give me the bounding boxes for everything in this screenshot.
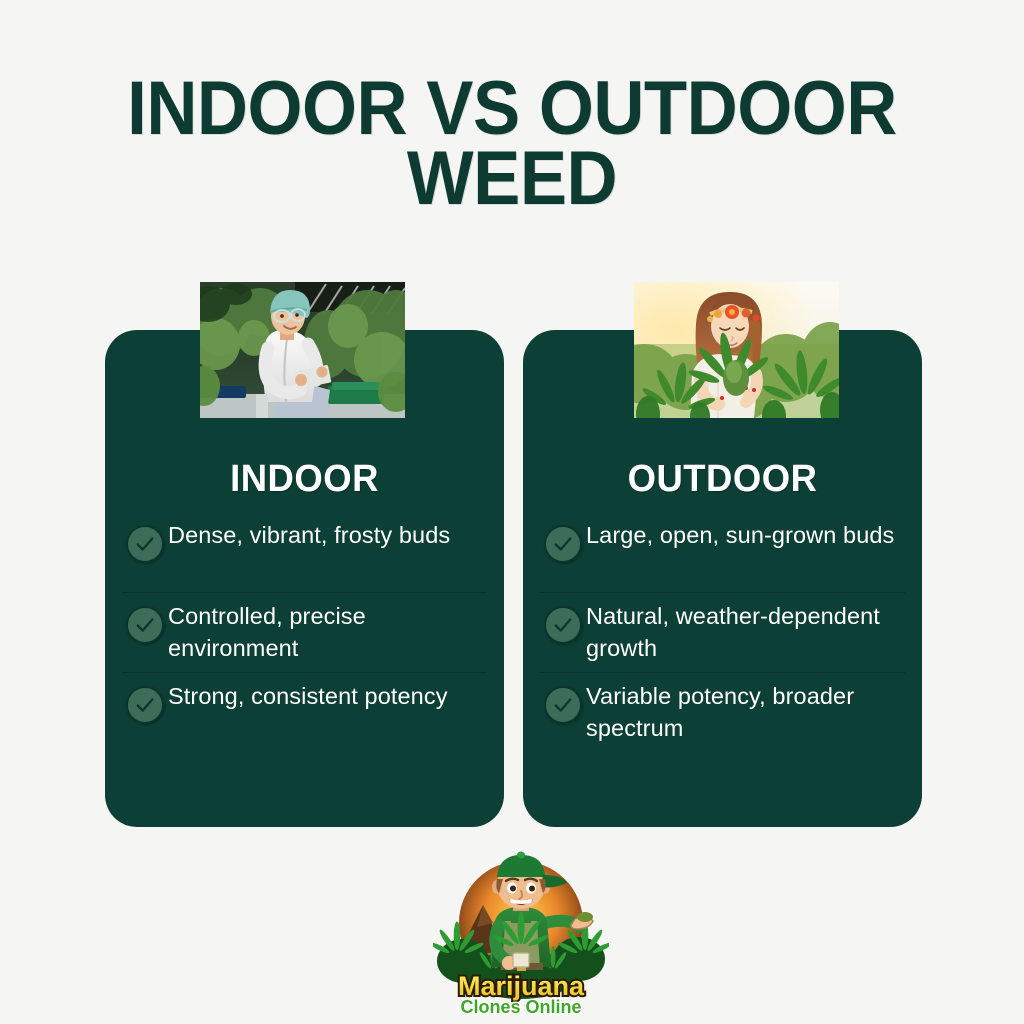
feature-text: Dense, vibrant, frosty buds [168,518,487,552]
feature-text: Large, open, sun-grown buds [586,518,905,552]
feature-text: Strong, consistent potency [168,679,487,713]
outdoor-grower-photo [634,282,839,418]
marijuana-clones-online-logo[interactable]: Marijuana Clones Online [433,845,609,1021]
card-heading-indoor: INDOOR [113,458,496,501]
check-icon-wrap [540,679,586,724]
check-icon-wrap [540,599,586,644]
list-item: Strong, consistent potency [122,672,487,752]
logo-text-line-2: Clones Online [460,997,581,1017]
feature-text: Variable potency, broader spectrum [586,679,905,745]
check-circle-icon [544,525,582,563]
check-circle-icon [126,606,164,644]
list-item: Variable potency, broader spectrum [540,672,905,752]
check-circle-icon [126,525,164,563]
check-icon-wrap [122,518,168,563]
infographic-poster: INDOOR VS OUTDOOR WEED INDOOR Dense, vib… [0,0,1024,1024]
title-line-1: INDOOR VS OUTDOOR [36,74,988,144]
indoor-grower-photo [200,282,405,418]
check-circle-icon [544,686,582,724]
card-heading-outdoor: OUTDOOR [531,458,914,501]
check-icon-wrap [540,518,586,563]
feature-text: Natural, weather-dependent growth [586,599,905,665]
list-item: Controlled, precise environment [122,592,487,672]
check-icon-wrap [122,679,168,724]
feature-text: Controlled, precise environment [168,599,487,665]
list-item: Dense, vibrant, frosty buds [122,512,487,592]
check-icon-wrap [122,599,168,644]
feature-list-indoor: Dense, vibrant, frosty buds Controlled, … [122,512,487,752]
check-circle-icon [126,686,164,724]
list-item: Natural, weather-dependent growth [540,592,905,672]
title-line-2: WEED [36,144,988,214]
check-circle-icon [544,606,582,644]
list-item: Large, open, sun-grown buds [540,512,905,592]
page-title: INDOOR VS OUTDOOR WEED [0,74,1024,214]
feature-list-outdoor: Large, open, sun-grown buds Natural, wea… [540,512,905,752]
